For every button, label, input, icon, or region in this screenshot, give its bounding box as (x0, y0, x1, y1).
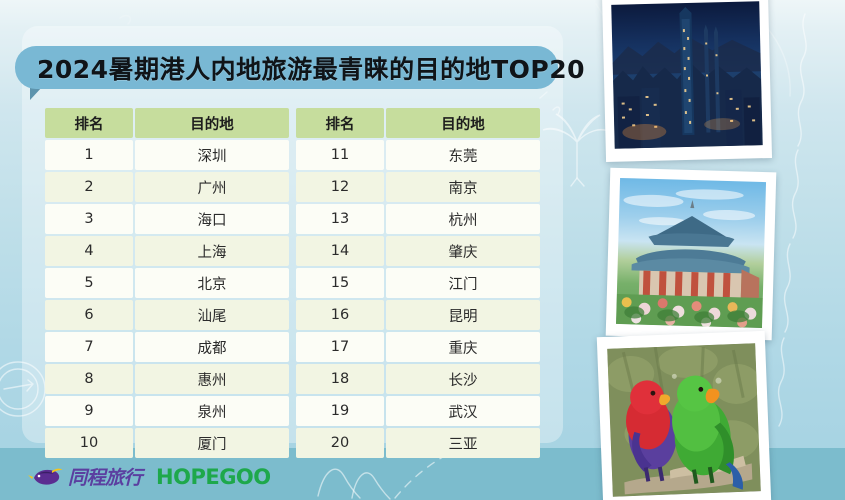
destination-cell: 肇庆 (386, 236, 540, 266)
table-row: 16昆明 (296, 300, 540, 330)
hopegoo-outline-label: GOO (219, 465, 270, 489)
table-row: 18长沙 (296, 364, 540, 394)
page-title: 2024暑期港人内地旅游最青睐的目的地TOP20 (37, 50, 585, 86)
rank-cell: 2 (45, 172, 133, 202)
destination-cell: 广州 (135, 172, 289, 202)
rank-cell: 16 (296, 300, 384, 330)
destination-cell: 昆明 (386, 300, 540, 330)
destination-cell: 重庆 (386, 332, 540, 362)
table-row: 19武汉 (296, 396, 540, 426)
tongcheng-travel-logo: 同程旅行 (28, 463, 142, 490)
rank-cell: 11 (296, 140, 384, 170)
table-row: 7成都 (45, 332, 289, 362)
table-row: 2广州 (45, 172, 289, 202)
destination-cell: 长沙 (386, 364, 540, 394)
parrots-image (607, 343, 761, 497)
hopegoo-solid-label: HOPE (156, 465, 219, 489)
rank-cell: 5 (45, 268, 133, 298)
column-header-destination-right: 目的地 (386, 108, 540, 138)
rank-cell: 15 (296, 268, 384, 298)
table-row: 10厦门 (45, 428, 289, 458)
destination-cell: 杭州 (386, 204, 540, 234)
rank-cell: 7 (45, 332, 133, 362)
rank-cell: 13 (296, 204, 384, 234)
destination-cell: 东莞 (386, 140, 540, 170)
destination-cell: 南京 (386, 172, 540, 202)
table-header-row: 排名 目的地 (296, 108, 540, 138)
column-header-rank-right: 排名 (296, 108, 384, 138)
ranking-table: 排名 目的地 1深圳 2广州 3海口 4上海 5北京 6汕尾 7成都 8惠州 9… (45, 108, 540, 458)
destination-cell: 惠州 (135, 364, 289, 394)
rank-cell: 1 (45, 140, 133, 170)
rank-cell: 20 (296, 428, 384, 458)
rank-cell: 19 (296, 396, 384, 426)
tongcheng-travel-label: 同程旅行 (68, 463, 142, 490)
table-row: 6汕尾 (45, 300, 289, 330)
destination-cell: 深圳 (135, 140, 289, 170)
column-header-destination-left: 目的地 (135, 108, 289, 138)
table-row: 8惠州 (45, 364, 289, 394)
table-row: 12南京 (296, 172, 540, 202)
parrots-photo (597, 331, 771, 500)
destination-cell: 汕尾 (135, 300, 289, 330)
table-row: 20三亚 (296, 428, 540, 458)
rank-cell: 8 (45, 364, 133, 394)
destination-cell: 厦门 (135, 428, 289, 458)
destination-cell: 武汉 (386, 396, 540, 426)
destination-cell: 江门 (386, 268, 540, 298)
column-header-rank-left: 排名 (45, 108, 133, 138)
destination-cell: 泉州 (135, 396, 289, 426)
city-skyline-night-photo (602, 0, 772, 162)
hopegoo-logo: HOPE GOO (156, 465, 271, 489)
rank-cell: 4 (45, 236, 133, 266)
rank-cell: 10 (45, 428, 133, 458)
table-row: 15江门 (296, 268, 540, 298)
rank-cell: 12 (296, 172, 384, 202)
rank-cell: 18 (296, 364, 384, 394)
destination-cell: 三亚 (386, 428, 540, 458)
bird-icon (28, 466, 62, 488)
destination-cell: 成都 (135, 332, 289, 362)
table-row: 3海口 (45, 204, 289, 234)
rank-cell: 3 (45, 204, 133, 234)
table-row: 17重庆 (296, 332, 540, 362)
rank-cell: 14 (296, 236, 384, 266)
footer-logos: 同程旅行 HOPE GOO (28, 463, 271, 490)
city-skyline-night-image (611, 1, 762, 149)
chinese-memorial-hall-photo (606, 168, 777, 341)
destination-cell: 海口 (135, 204, 289, 234)
destination-cell: 北京 (135, 268, 289, 298)
ranking-table-right: 排名 目的地 11东莞 12南京 13杭州 14肇庆 15江门 16昆明 17重… (296, 108, 540, 458)
ranking-table-left: 排名 目的地 1深圳 2广州 3海口 4上海 5北京 6汕尾 7成都 8惠州 9… (45, 108, 289, 458)
table-row: 4上海 (45, 236, 289, 266)
destination-cell: 上海 (135, 236, 289, 266)
table-row: 5北京 (45, 268, 289, 298)
table-row: 14肇庆 (296, 236, 540, 266)
title-banner: 2024暑期港人内地旅游最青睐的目的地TOP20 (15, 46, 558, 89)
table-row: 9泉州 (45, 396, 289, 426)
chinese-memorial-hall-image (616, 178, 766, 328)
rank-cell: 17 (296, 332, 384, 362)
table-row: 1深圳 (45, 140, 289, 170)
table-row: 11东莞 (296, 140, 540, 170)
rank-cell: 6 (45, 300, 133, 330)
rank-cell: 9 (45, 396, 133, 426)
table-header-row: 排名 目的地 (45, 108, 289, 138)
table-row: 13杭州 (296, 204, 540, 234)
infographic-canvas: 2024暑期港人内地旅游最青睐的目的地TOP20 排名 目的地 1深圳 2广州 … (0, 0, 845, 500)
